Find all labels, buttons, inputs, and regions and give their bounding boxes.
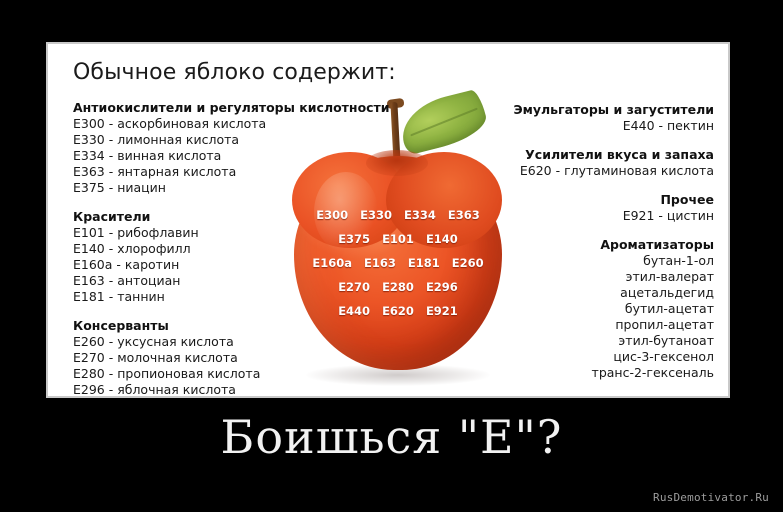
additives-left-column: Антиокислители и регуляторы кислотности … [73,100,373,396]
apple-code: E334 [404,208,436,222]
apple-code: E280 [382,280,414,294]
section-flavor-enhancers: Усилители вкуса и запаха E620 - глутамин… [454,147,714,179]
section-title: Прочее [454,192,714,208]
section-item: цис-3-гексенол [454,349,714,365]
section-colorants: Красители E101 - рибофлавин E140 - хлоро… [73,209,373,305]
section-aromatics: Ароматизаторы бутан-1-ол этил-валерат ац… [454,237,714,381]
section-item: бутил-ацетат [454,301,714,317]
section-item: E280 - пропионовая кислота [73,366,373,382]
section-item: ацетальдегид [454,285,714,301]
section-item: E334 - винная кислота [73,148,373,164]
section-item: E300 - аскорбиновая кислота [73,116,373,132]
section-item: E260 - уксусная кислота [73,334,373,350]
section-other: Прочее E921 - цистин [454,192,714,224]
page-title: Обычное яблоко содержит: [73,60,396,85]
section-antioxidants: Антиокислители и регуляторы кислотности … [73,100,373,196]
section-item: E330 - лимонная кислота [73,132,373,148]
apple-code: E620 [382,304,414,318]
section-item: транс-2-гексеналь [454,365,714,381]
section-title: Консерванты [73,318,373,334]
section-item: E163 - антоциан [73,273,373,289]
section-item: этил-бутаноат [454,333,714,349]
apple-code: E101 [382,232,414,246]
section-item: E363 - янтарная кислота [73,164,373,180]
section-title: Ароматизаторы [454,237,714,253]
section-preservatives: Консерванты E260 - уксусная кислота E270… [73,318,373,396]
section-item: E181 - таннин [73,289,373,305]
section-emulsifiers: Эмульгаторы и загустители E440 - пектин [454,102,714,134]
section-item: этил-валерат [454,269,714,285]
section-title: Эмульгаторы и загустители [454,102,714,118]
section-item: E296 - яблочная кислота [73,382,373,396]
section-title: Антиокислители и регуляторы кислотности [73,100,373,116]
section-item: бутан-1-ол [454,253,714,269]
section-item: E160a - каротин [73,257,373,273]
apple-stem-icon [390,102,400,164]
section-item: E375 - ниацин [73,180,373,196]
content-panel-frame: Обычное яблоко содержит: E300 E330 E33 [46,42,730,398]
section-item: E921 - цистин [454,208,714,224]
additives-right-column: Эмульгаторы и загустители E440 - пектин … [454,102,714,381]
section-item: E440 - пектин [454,118,714,134]
content-panel: Обычное яблоко содержит: E300 E330 E33 [48,44,728,396]
apple-top-dimple [366,150,428,176]
section-item: E140 - хлорофилл [73,241,373,257]
section-item: E620 - глутаминовая кислота [454,163,714,179]
section-item: E101 - рибофлавин [73,225,373,241]
site-watermark: RusDemotivator.Ru [653,491,769,504]
section-title: Усилители вкуса и запаха [454,147,714,163]
section-item: E270 - молочная кислота [73,350,373,366]
poster-caption: Боишься "Е"? [0,410,783,464]
section-item: пропил-ацетат [454,317,714,333]
apple-code: E181 [408,256,440,270]
demotivator-poster: Обычное яблоко содержит: E300 E330 E33 [0,0,783,512]
section-title: Красители [73,209,373,225]
